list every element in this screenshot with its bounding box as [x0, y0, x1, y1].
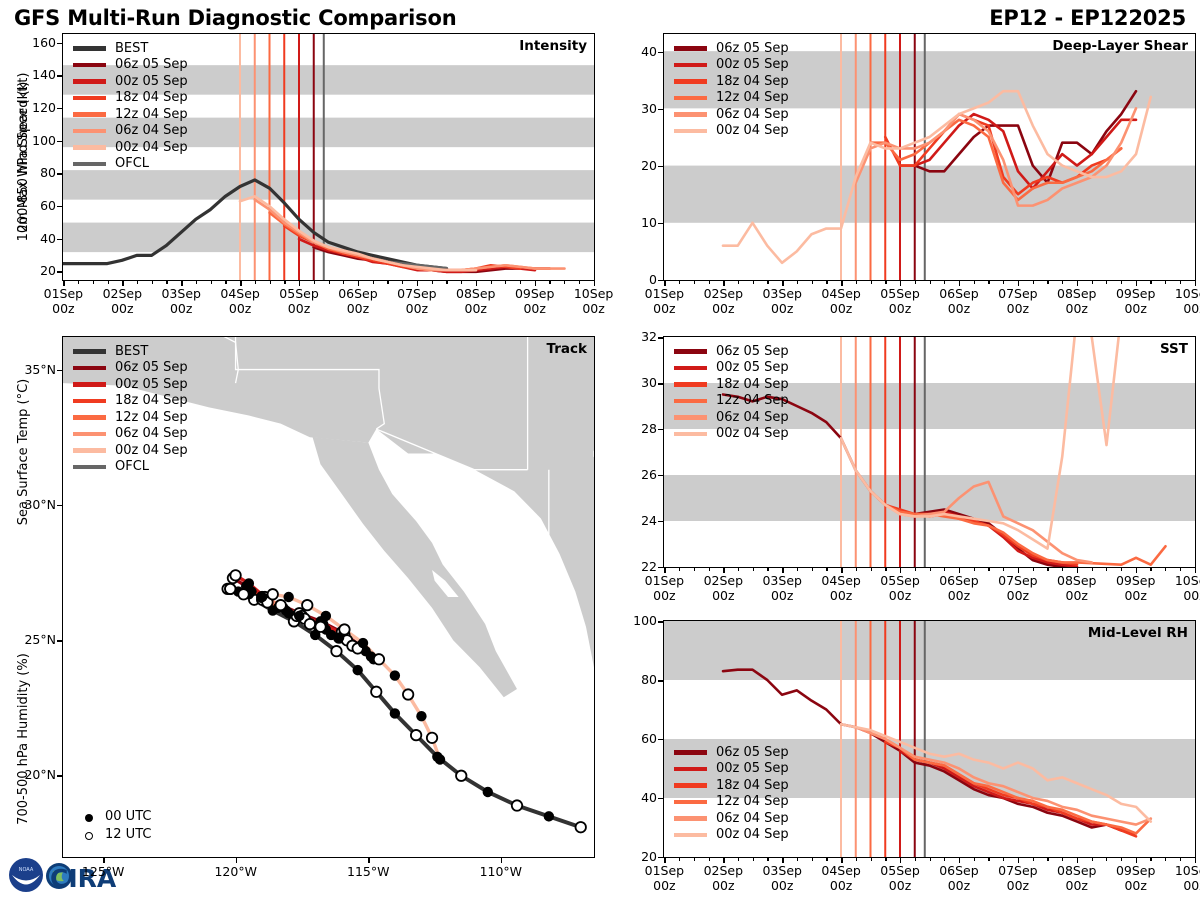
x-tick-label: 02Sep00z [691, 286, 755, 316]
x-minor-tick [1047, 858, 1048, 861]
track-point-12utc [371, 687, 381, 697]
x-tick-hour: 00z [1124, 878, 1146, 893]
x-tick-mark [1018, 858, 1019, 863]
x-minor-tick [812, 858, 813, 861]
legend-item[interactable]: 12z 04 Sep [674, 90, 789, 107]
marker-legend-label: 00 UTC [105, 809, 151, 824]
legend-item[interactable]: BEST [73, 343, 188, 360]
y-tick-mark [57, 43, 62, 44]
x-minor-tick [915, 858, 916, 861]
x-tick-date: 02Sep [103, 286, 142, 301]
x-minor-tick [826, 281, 827, 284]
legend-label: 12z 04 Sep [716, 794, 789, 809]
x-minor-tick [856, 568, 857, 571]
noaa-seal-icon: NOAA [9, 858, 43, 892]
x-minor-tick [944, 281, 945, 284]
track-point-12utc [305, 619, 315, 629]
x-minor-tick [491, 281, 492, 284]
y-band [63, 170, 594, 200]
x-tick-hour: 00z [830, 301, 852, 316]
legend-swatch [674, 415, 707, 420]
x-tick-date: 07Sep [397, 286, 436, 301]
x-tick-label: 10Sep00z [1163, 863, 1200, 893]
x-minor-tick [314, 281, 315, 284]
track-point-12utc [576, 822, 586, 832]
legend-swatch [73, 96, 106, 101]
y-tick-mark [658, 337, 663, 338]
y-tick-mark [658, 621, 663, 622]
x-tick-mark [959, 568, 960, 573]
legend-item[interactable]: 00z 04 Sep [73, 442, 188, 459]
legend-swatch [73, 63, 106, 68]
x-tick-date: 03Sep [762, 286, 801, 301]
legend-item[interactable]: 06z 05 Sep [674, 744, 789, 761]
x-minor-tick [1062, 858, 1063, 861]
legend-swatch [674, 783, 707, 788]
x-minor-tick [432, 281, 433, 284]
x-tick-date: 05Sep [880, 863, 919, 878]
x-tick-mark [900, 281, 901, 286]
x-minor-tick [1033, 281, 1034, 284]
legend-item[interactable]: 06z 04 Sep [73, 123, 188, 140]
legend-swatch [73, 432, 106, 437]
track-point-12utc [268, 589, 278, 599]
x-minor-tick [211, 281, 212, 284]
x-tick-hour: 00z [1183, 878, 1200, 893]
x-tick-date: 09Sep [1116, 286, 1155, 301]
y-tick-label: 32 [617, 329, 657, 344]
legend-label: 18z 04 Sep [115, 90, 188, 105]
x-minor-tick [797, 568, 798, 571]
x-tick-date: 06Sep [338, 286, 377, 301]
map-border [448, 546, 480, 560]
legend-swatch [73, 112, 106, 117]
track-point-00utc [544, 811, 554, 821]
legend-label: 06z 04 Sep [716, 410, 789, 425]
track-point-12utc [427, 733, 437, 743]
legend: BEST06z 05 Sep00z 05 Sep18z 04 Sep12z 04… [73, 40, 188, 172]
x-tick-mark [782, 568, 783, 573]
x-tick-mark [1195, 568, 1196, 573]
legend-item[interactable]: BEST [73, 40, 188, 57]
x-minor-tick [753, 858, 754, 861]
legend-label: 06z 05 Sep [115, 57, 188, 72]
x-tick-mark [664, 281, 665, 286]
x-minor-tick [1003, 858, 1004, 861]
legend-item[interactable]: 06z 05 Sep [73, 57, 188, 74]
x-tick-date: 02Sep [704, 573, 743, 588]
x-minor-tick [1047, 568, 1048, 571]
legend-swatch [73, 129, 106, 134]
legend-label: 00z 04 Sep [716, 426, 789, 441]
x-minor-tick [1180, 281, 1181, 284]
legend-swatch [73, 382, 106, 387]
legend-swatch [674, 366, 707, 371]
y-tick-mark [658, 166, 663, 167]
y-tick-mark [57, 271, 62, 272]
x-minor-tick [753, 568, 754, 571]
x-minor-tick [1150, 281, 1151, 284]
legend-item[interactable]: 12z 04 Sep [73, 106, 188, 123]
x-tick-hour: 00z [170, 301, 192, 316]
x-minor-tick [679, 568, 680, 571]
legend-item[interactable]: 18z 04 Sep [674, 777, 789, 794]
legend-item[interactable]: 00z 05 Sep [674, 761, 789, 778]
x-minor-tick [694, 858, 695, 861]
x-tick-label: 09Sep00z [1104, 286, 1168, 316]
panel-intensity: IntensityBEST06z 05 Sep00z 05 Sep18z 04 … [62, 33, 595, 281]
track-point-00utc [321, 611, 331, 621]
track-point-12utc [238, 589, 248, 599]
x-minor-tick [137, 281, 138, 284]
panel-title: SST [1160, 341, 1188, 357]
y-axis-label: 200-850 hPa Shear (kt) [16, 82, 31, 233]
x-tick-label: 03Sep00z [750, 863, 814, 893]
legend-label: 00z 04 Sep [115, 140, 188, 155]
x-tick-hour: 00z [52, 301, 74, 316]
x-tick-mark [841, 568, 842, 573]
x-tick-mark [594, 281, 595, 286]
lat-tick-label: 30°N [8, 497, 56, 512]
legend-item[interactable]: 18z 04 Sep [674, 73, 789, 90]
x-minor-tick [871, 858, 872, 861]
panel-shear: Deep-Layer Shear06z 05 Sep00z 05 Sep18z … [663, 33, 1196, 281]
x-tick-mark [1136, 858, 1137, 863]
x-tick-hour: 00z [1124, 301, 1146, 316]
x-minor-tick [446, 281, 447, 284]
legend-item[interactable]: 00z 05 Sep [674, 57, 789, 74]
x-minor-tick [988, 858, 989, 861]
x-minor-tick [520, 281, 521, 284]
y-tick-mark [658, 383, 663, 384]
legend-label: OFCL [115, 459, 149, 474]
x-tick-date: 02Sep [704, 286, 743, 301]
x-tick-mark [723, 858, 724, 863]
y-tick-label: 20 [617, 158, 657, 173]
x-tick-date: 08Sep [1057, 286, 1096, 301]
x-tick-label: 01Sep00z [632, 863, 696, 893]
x-tick-hour: 00z [653, 588, 675, 603]
x-tick-mark [240, 281, 241, 286]
legend-label: 06z 04 Sep [115, 123, 188, 138]
svg-text:NOAA: NOAA [19, 867, 34, 873]
y-tick-label: 20 [617, 849, 657, 864]
legend-label: 00z 05 Sep [716, 761, 789, 776]
legend-swatch [73, 448, 106, 453]
marker-legend-item: 12 UTC [77, 825, 151, 843]
legend-item[interactable]: 12z 04 Sep [674, 794, 789, 811]
legend-label: 00z 04 Sep [716, 123, 789, 138]
x-minor-tick [930, 858, 931, 861]
x-tick-mark [723, 568, 724, 573]
y-tick-label: 60 [617, 731, 657, 746]
y-tick-label: 22 [617, 559, 657, 574]
lon-tick-label: 115°W [332, 864, 404, 879]
panel-track: TrackBEST06z 05 Sep00z 05 Sep18z 04 Sep1… [62, 336, 595, 858]
panel-sst: SST06z 05 Sep00z 05 Sep18z 04 Sep12z 04 … [663, 336, 1196, 568]
legend-item[interactable]: 06z 04 Sep [674, 810, 789, 827]
x-tick-label: 07Sep00z [385, 286, 449, 316]
track-point-00utc [283, 592, 293, 602]
panel-title: Mid-Level RH [1088, 625, 1188, 641]
legend-swatch [674, 833, 707, 838]
x-tick-date: 10Sep [1175, 286, 1200, 301]
track-point-12utc [331, 646, 341, 656]
x-minor-tick [343, 281, 344, 284]
legend-swatch [73, 349, 106, 354]
x-tick-mark [1136, 281, 1137, 286]
legend-label: 12z 04 Sep [716, 90, 789, 105]
x-tick-label: 03Sep00z [750, 573, 814, 603]
legend-item[interactable]: 00z 04 Sep [674, 827, 789, 844]
lon-tick-mark [103, 858, 104, 863]
legend-item[interactable]: 06z 04 Sep [73, 426, 188, 443]
legend-item[interactable]: 06z 05 Sep [674, 343, 789, 360]
x-minor-tick [1165, 858, 1166, 861]
map-border [501, 518, 541, 548]
x-tick-hour: 00z [1066, 588, 1088, 603]
x-tick-date: 10Sep [1175, 863, 1200, 878]
track-point-00utc [390, 708, 400, 718]
x-tick-date: 08Sep [456, 286, 495, 301]
legend-item[interactable]: 12z 04 Sep [73, 409, 188, 426]
legend-item[interactable]: 06z 04 Sep [674, 409, 789, 426]
x-tick-date: 01Sep [645, 573, 684, 588]
legend-label: 18z 04 Sep [115, 393, 188, 408]
x-tick-mark [841, 858, 842, 863]
legend-item[interactable]: 00z 05 Sep [73, 376, 188, 393]
y-axis-label: 700-500 hPa Humidity (%) [16, 653, 31, 825]
y-tick-mark [57, 239, 62, 240]
x-minor-tick [812, 281, 813, 284]
x-minor-tick [709, 281, 710, 284]
x-minor-tick [1033, 858, 1034, 861]
legend-label: 12z 04 Sep [115, 410, 188, 425]
x-minor-tick [767, 281, 768, 284]
x-minor-tick [1165, 568, 1166, 571]
x-minor-tick [709, 858, 710, 861]
legend-label: 06z 05 Sep [716, 344, 789, 359]
legend-label: 00z 05 Sep [115, 74, 188, 89]
x-tick-date: 06Sep [939, 286, 978, 301]
x-minor-tick [974, 568, 975, 571]
legend-item[interactable]: 18z 04 Sep [674, 376, 789, 393]
x-minor-tick [166, 281, 167, 284]
x-tick-hour: 00z [1066, 301, 1088, 316]
x-minor-tick [225, 281, 226, 284]
x-minor-tick [255, 281, 256, 284]
x-minor-tick [78, 281, 79, 284]
x-minor-tick [871, 281, 872, 284]
track-point-00utc [435, 754, 445, 764]
legend-item[interactable]: 00z 05 Sep [73, 73, 188, 90]
track-point-12utc [512, 800, 522, 810]
lat-tick-label: 35°N [8, 362, 56, 377]
x-tick-date: 10Sep [1175, 573, 1200, 588]
x-tick-date: 04Sep [821, 286, 860, 301]
x-minor-tick [284, 281, 285, 284]
legend-swatch [674, 750, 707, 755]
x-minor-tick [738, 858, 739, 861]
x-tick-hour: 00z [465, 301, 487, 316]
legend-item[interactable]: 06z 04 Sep [674, 106, 789, 123]
x-tick-mark [959, 281, 960, 286]
x-tick-date: 02Sep [704, 863, 743, 878]
x-tick-label: 06Sep00z [326, 286, 390, 316]
lon-tick-mark [368, 858, 369, 863]
x-tick-hour: 00z [1183, 588, 1200, 603]
x-tick-mark [1018, 281, 1019, 286]
x-tick-hour: 00z [1124, 588, 1146, 603]
x-tick-hour: 00z [347, 301, 369, 316]
x-minor-tick [694, 281, 695, 284]
x-tick-mark [782, 858, 783, 863]
legend-label: 06z 05 Sep [115, 360, 188, 375]
x-tick-label: 04Sep00z [208, 286, 272, 316]
legend-item[interactable]: 00z 04 Sep [674, 123, 789, 140]
x-minor-tick [944, 568, 945, 571]
y-tick-mark [658, 521, 663, 522]
x-tick-mark [782, 281, 783, 286]
legend-label: 00z 04 Sep [716, 827, 789, 842]
x-tick-hour: 00z [889, 301, 911, 316]
y-tick-mark [658, 429, 663, 430]
y-tick-label: 40 [617, 44, 657, 59]
x-tick-label: 07Sep00z [986, 863, 1050, 893]
x-minor-tick [1003, 281, 1004, 284]
x-minor-tick [1121, 281, 1122, 284]
x-tick-date: 09Sep [1116, 863, 1155, 878]
x-tick-date: 04Sep [821, 573, 860, 588]
legend-item[interactable]: OFCL [73, 156, 188, 173]
x-minor-tick [885, 281, 886, 284]
track-point-12utc [456, 771, 466, 781]
panel-title: Intensity [519, 38, 587, 54]
x-tick-mark [900, 858, 901, 863]
x-tick-hour: 00z [771, 878, 793, 893]
legend-item[interactable]: 18z 04 Sep [73, 90, 188, 107]
track-point-00utc [416, 711, 426, 721]
x-minor-tick [1092, 568, 1093, 571]
y-tick-mark [658, 52, 663, 53]
legend-swatch [73, 162, 106, 167]
track-point-00utc [257, 592, 267, 602]
x-minor-tick [797, 858, 798, 861]
x-minor-tick [549, 281, 550, 284]
y-tick-label: 160 [16, 35, 56, 50]
x-tick-label: 06Sep00z [927, 863, 991, 893]
lat-tick-mark [57, 775, 62, 776]
x-minor-tick [1033, 568, 1034, 571]
legend-item[interactable]: 18z 04 Sep [73, 393, 188, 410]
x-tick-label: 07Sep00z [986, 286, 1050, 316]
x-tick-date: 01Sep [44, 286, 83, 301]
track-point-00utc [358, 638, 368, 648]
y-tick-label: 10 [617, 215, 657, 230]
lon-tick-label: 120°W [200, 864, 272, 879]
track-line [228, 589, 581, 827]
x-tick-date: 03Sep [161, 286, 200, 301]
legend-label: 00z 05 Sep [716, 360, 789, 375]
legend: 06z 05 Sep00z 05 Sep18z 04 Sep12z 04 Sep… [674, 343, 789, 442]
x-tick-label: 05Sep00z [868, 863, 932, 893]
x-minor-tick [974, 858, 975, 861]
x-minor-tick [988, 281, 989, 284]
legend-item[interactable]: 12z 04 Sep [674, 393, 789, 410]
y-tick-label: 26 [617, 467, 657, 482]
legend-item[interactable]: 06z 05 Sep [73, 360, 188, 377]
x-minor-tick [1106, 568, 1107, 571]
legend-swatch [73, 366, 106, 371]
track-point-00utc [483, 787, 493, 797]
x-tick-label: 03Sep00z [149, 286, 213, 316]
legend-swatch [674, 63, 707, 68]
x-minor-tick [694, 568, 695, 571]
x-minor-tick [812, 568, 813, 571]
y-tick-label: 24 [617, 513, 657, 528]
legend-label: 18z 04 Sep [716, 377, 789, 392]
marker-legend-item: 00 UTC [77, 807, 151, 825]
legend-item[interactable]: 00z 04 Sep [73, 139, 188, 156]
x-tick-mark [476, 281, 477, 286]
x-minor-tick [797, 281, 798, 284]
x-tick-label: 03Sep00z [750, 286, 814, 316]
x-tick-date: 05Sep [279, 286, 318, 301]
x-tick-date: 06Sep [939, 863, 978, 878]
x-tick-hour: 00z [771, 301, 793, 316]
x-tick-hour: 00z [712, 301, 734, 316]
x-tick-label: 08Sep00z [1045, 863, 1109, 893]
x-tick-label: 01Sep00z [632, 286, 696, 316]
track-point-00utc [352, 665, 362, 675]
x-tick-hour: 00z [830, 588, 852, 603]
x-tick-label: 07Sep00z [986, 573, 1050, 603]
x-tick-hour: 00z [771, 588, 793, 603]
legend-item[interactable]: 06z 05 Sep [674, 40, 789, 57]
track-point-12utc [315, 622, 325, 632]
x-minor-tick [373, 281, 374, 284]
x-minor-tick [1092, 858, 1093, 861]
legend-item[interactable]: 00z 04 Sep [674, 426, 789, 443]
x-tick-date: 08Sep [1057, 863, 1096, 878]
x-tick-date: 01Sep [645, 286, 684, 301]
track-point-12utc [230, 570, 240, 580]
legend-label: 06z 04 Sep [115, 426, 188, 441]
legend-swatch [674, 79, 707, 84]
legend-label: 18z 04 Sep [716, 778, 789, 793]
x-tick-hour: 00z [582, 301, 604, 316]
x-tick-date: 07Sep [998, 286, 1037, 301]
x-tick-hour: 00z [948, 588, 970, 603]
legend-item[interactable]: 00z 05 Sep [674, 360, 789, 377]
marker-filled-icon [77, 807, 101, 826]
x-minor-tick [329, 281, 330, 284]
x-tick-mark [1077, 568, 1078, 573]
x-tick-label: 10Sep00z [1163, 286, 1200, 316]
x-minor-tick [1121, 568, 1122, 571]
legend-item[interactable]: OFCL [73, 459, 188, 476]
x-tick-date: 09Sep [515, 286, 554, 301]
x-tick-date: 05Sep [880, 286, 919, 301]
legend-swatch [674, 382, 707, 387]
track-point-12utc [411, 730, 421, 740]
x-tick-label: 10Sep00z [1163, 573, 1200, 603]
y-tick-label: 30 [617, 375, 657, 390]
x-tick-hour: 00z [653, 301, 675, 316]
x-minor-tick [1150, 568, 1151, 571]
x-tick-label: 02Sep00z [90, 286, 154, 316]
x-tick-label: 04Sep00z [809, 573, 873, 603]
